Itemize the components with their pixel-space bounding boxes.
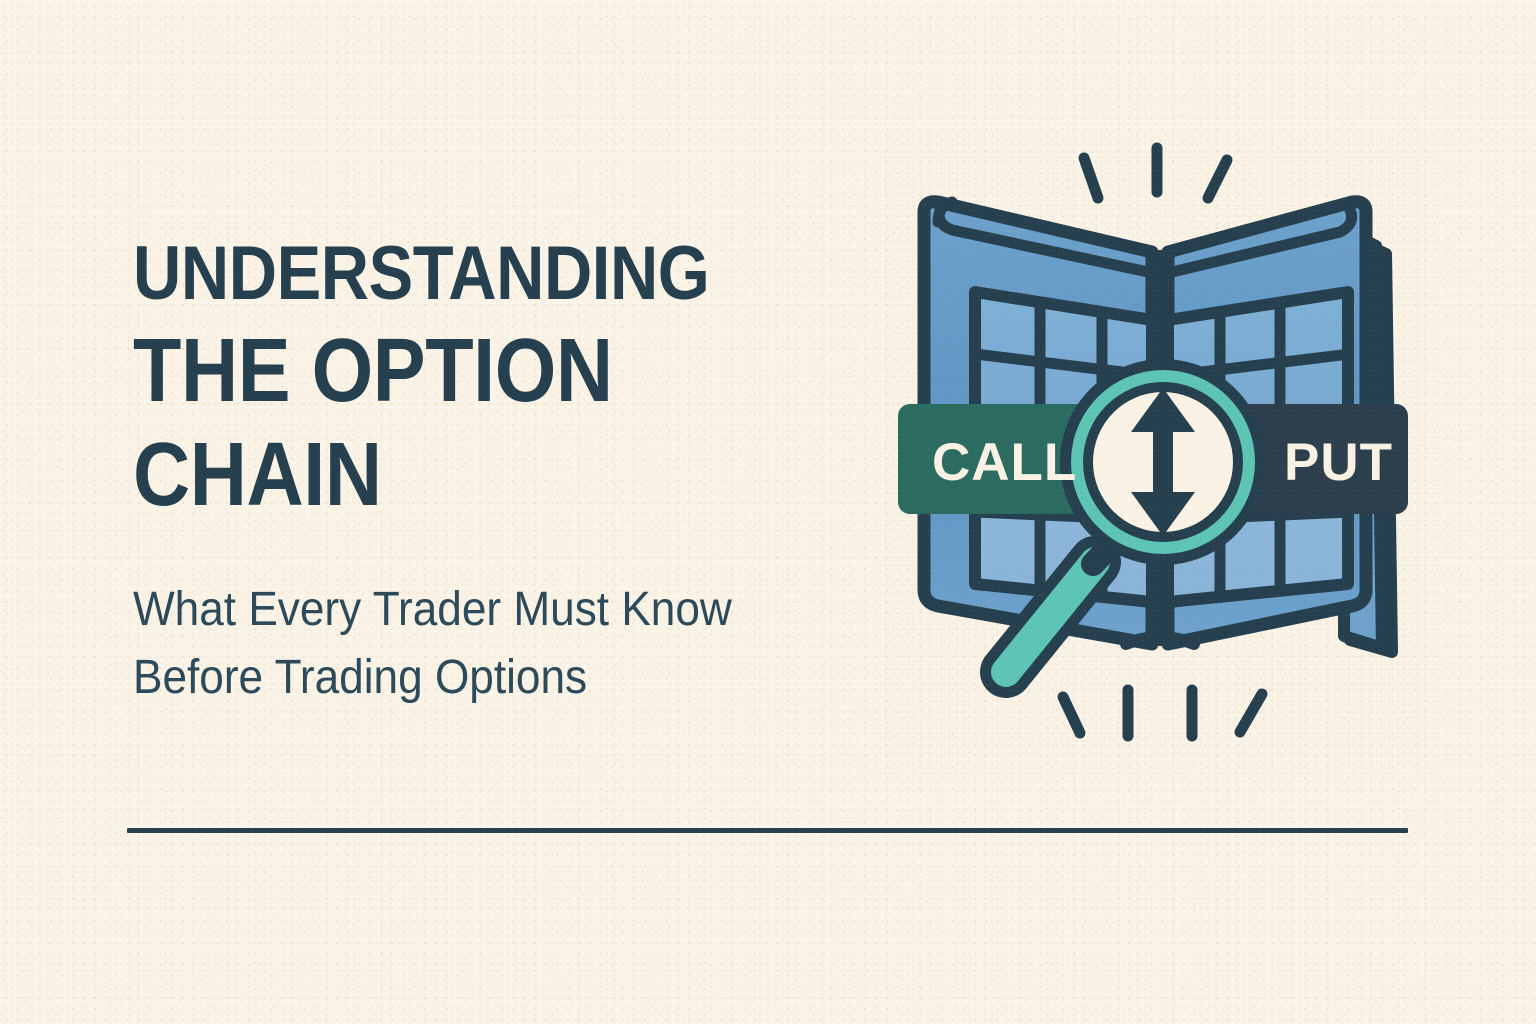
sparkle-lines-icon bbox=[1084, 148, 1227, 198]
text-column: UNDERSTANDING THE OPTION CHAIN What Ever… bbox=[133, 236, 893, 712]
title-line-1: UNDERSTANDING bbox=[133, 236, 802, 312]
illustration-option-chain: CALL PUT bbox=[880, 132, 1440, 772]
page-title: UNDERSTANDING THE OPTION CHAIN bbox=[133, 236, 893, 520]
horizontal-divider bbox=[127, 828, 1408, 833]
banner-root: UNDERSTANDING THE OPTION CHAIN What Ever… bbox=[0, 0, 1536, 1024]
sparkle-lines-bottom-icon bbox=[1063, 690, 1262, 736]
title-line-3: CHAIN bbox=[133, 430, 802, 520]
put-banner-label: PUT bbox=[1284, 433, 1393, 492]
subtitle-line-2: Before Trading Options bbox=[133, 644, 832, 712]
title-line-2: THE OPTION bbox=[133, 326, 802, 416]
subtitle-line-1: What Every Trader Must Know bbox=[133, 576, 832, 644]
call-banner-label: CALL bbox=[932, 433, 1077, 492]
page-subtitle: What Every Trader Must Know Before Tradi… bbox=[133, 576, 893, 712]
